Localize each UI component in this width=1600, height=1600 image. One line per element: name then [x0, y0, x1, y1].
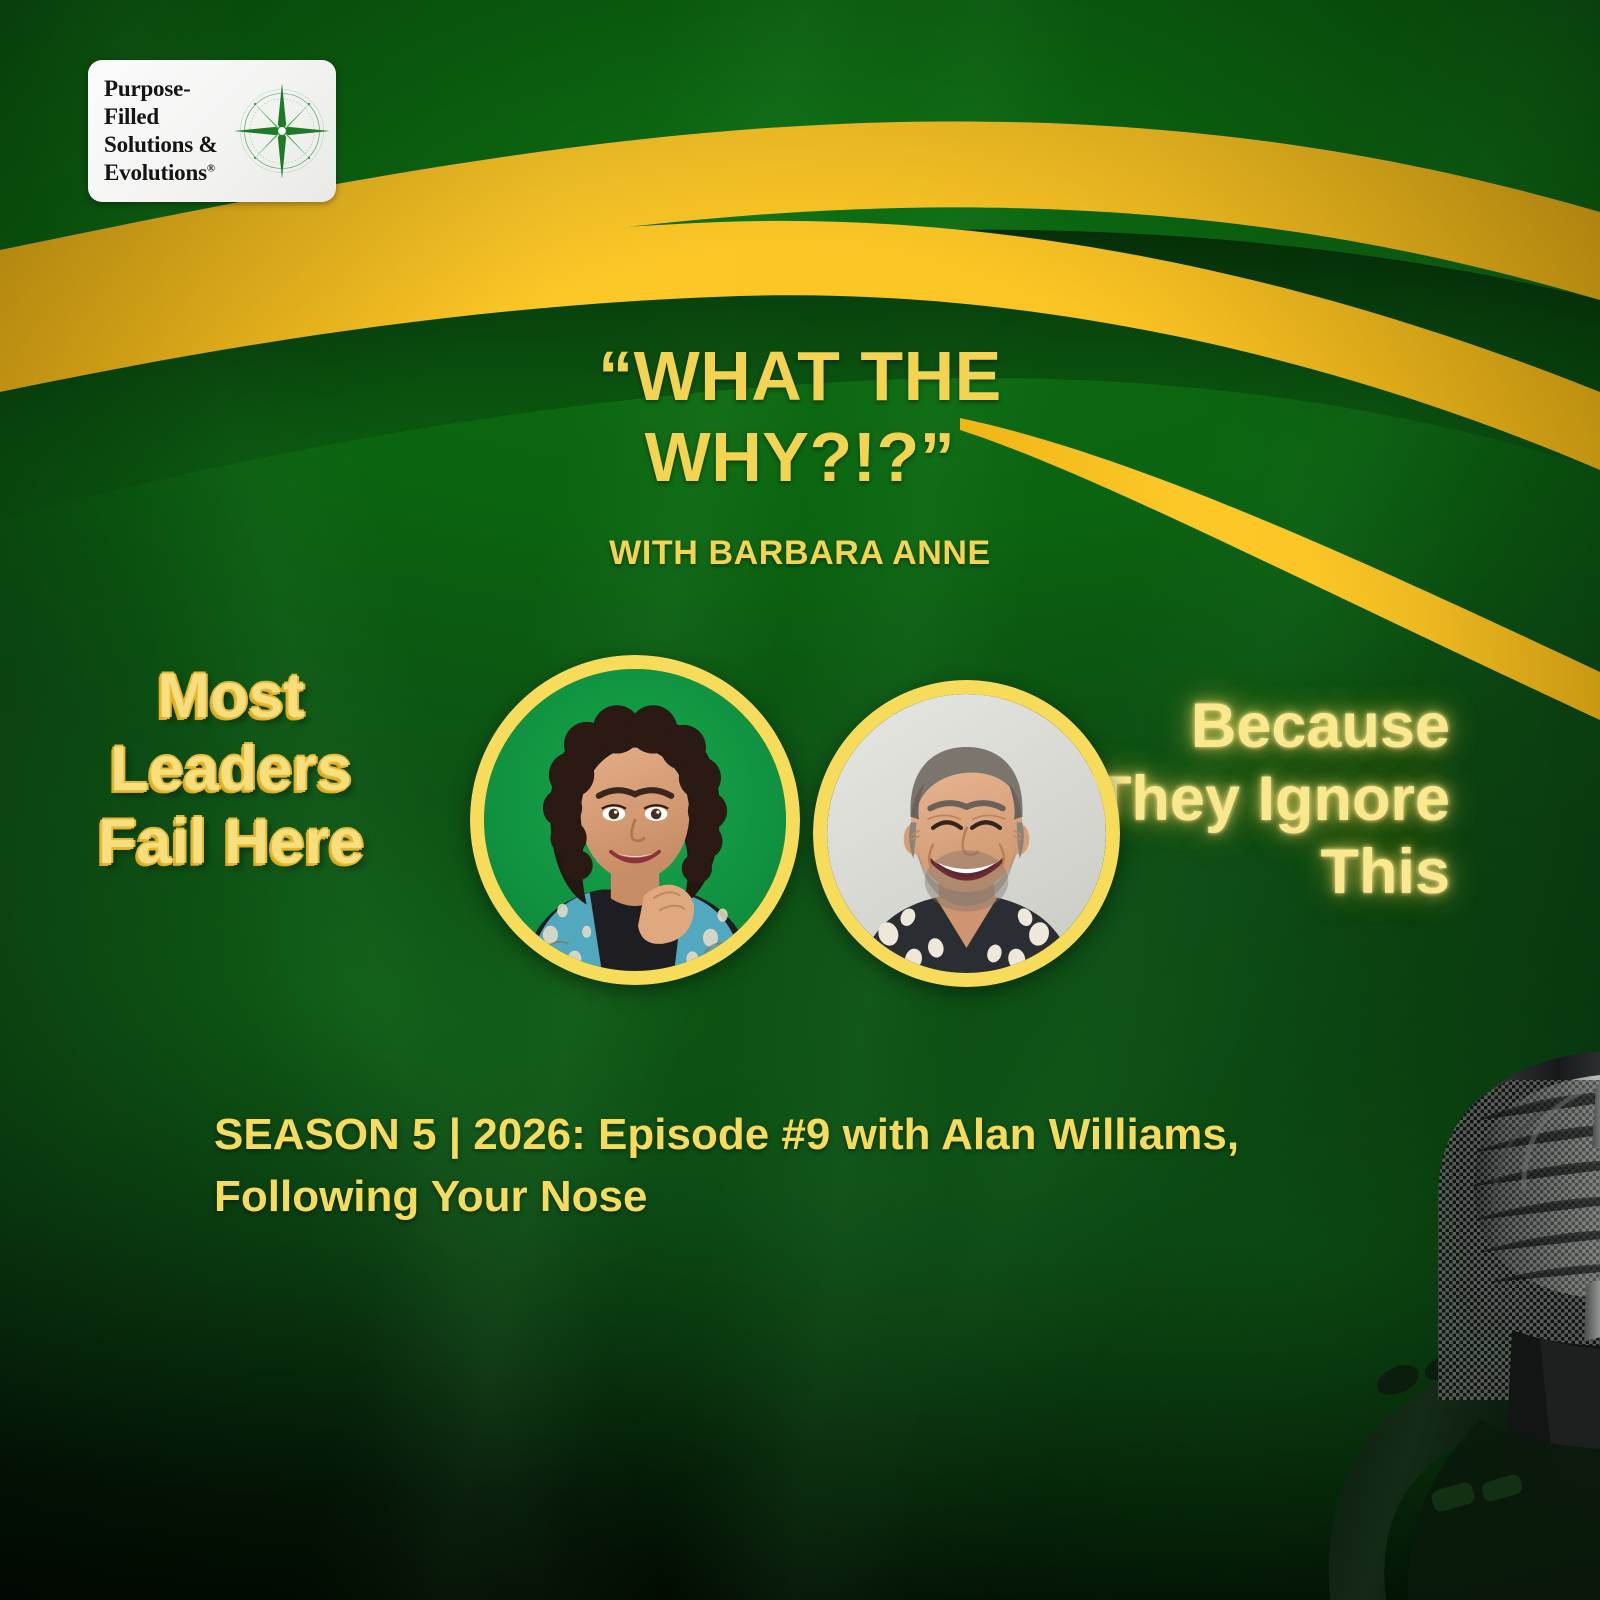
- podcast-cover: Purpose-Filled Solutions & Evolutions®: [0, 0, 1600, 1600]
- studio-microphone-icon: [0, 0, 1600, 1600]
